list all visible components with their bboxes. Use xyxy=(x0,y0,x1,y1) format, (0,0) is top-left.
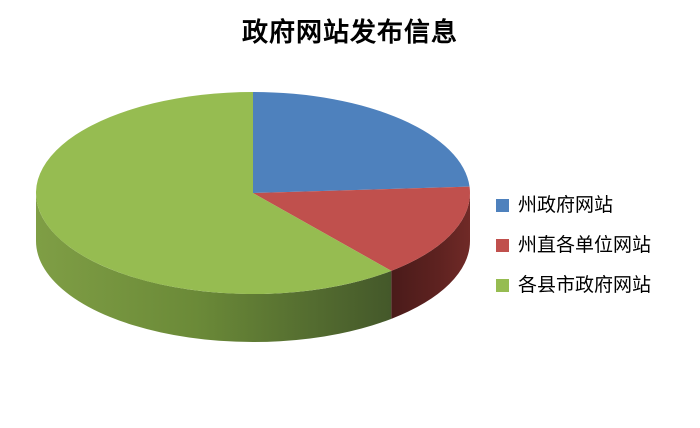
pie-svg xyxy=(0,60,490,390)
legend-item-1[interactable]: 州直各单位网站 xyxy=(496,225,700,265)
pie-plot-area xyxy=(0,60,490,390)
legend-swatch-icon-1 xyxy=(496,239,509,252)
legend: 州政府网站 州直各单位网站 各县市政府网站 xyxy=(496,185,700,305)
legend-item-0[interactable]: 州政府网站 xyxy=(496,185,700,225)
legend-item-2[interactable]: 各县市政府网站 xyxy=(496,265,700,305)
pie-slice-prefecture-gov-site[interactable] xyxy=(253,92,470,193)
legend-swatch-icon-2 xyxy=(496,279,509,292)
legend-label-0: 州政府网站 xyxy=(518,196,613,215)
chart-title: 政府网站发布信息 xyxy=(0,12,700,49)
pie-top-surface xyxy=(36,92,470,294)
legend-swatch-icon-0 xyxy=(496,199,509,212)
legend-label-1: 州直各单位网站 xyxy=(518,236,651,255)
legend-label-2: 各县市政府网站 xyxy=(518,276,651,295)
pie-chart: 政府网站发布信息 xyxy=(0,0,700,428)
